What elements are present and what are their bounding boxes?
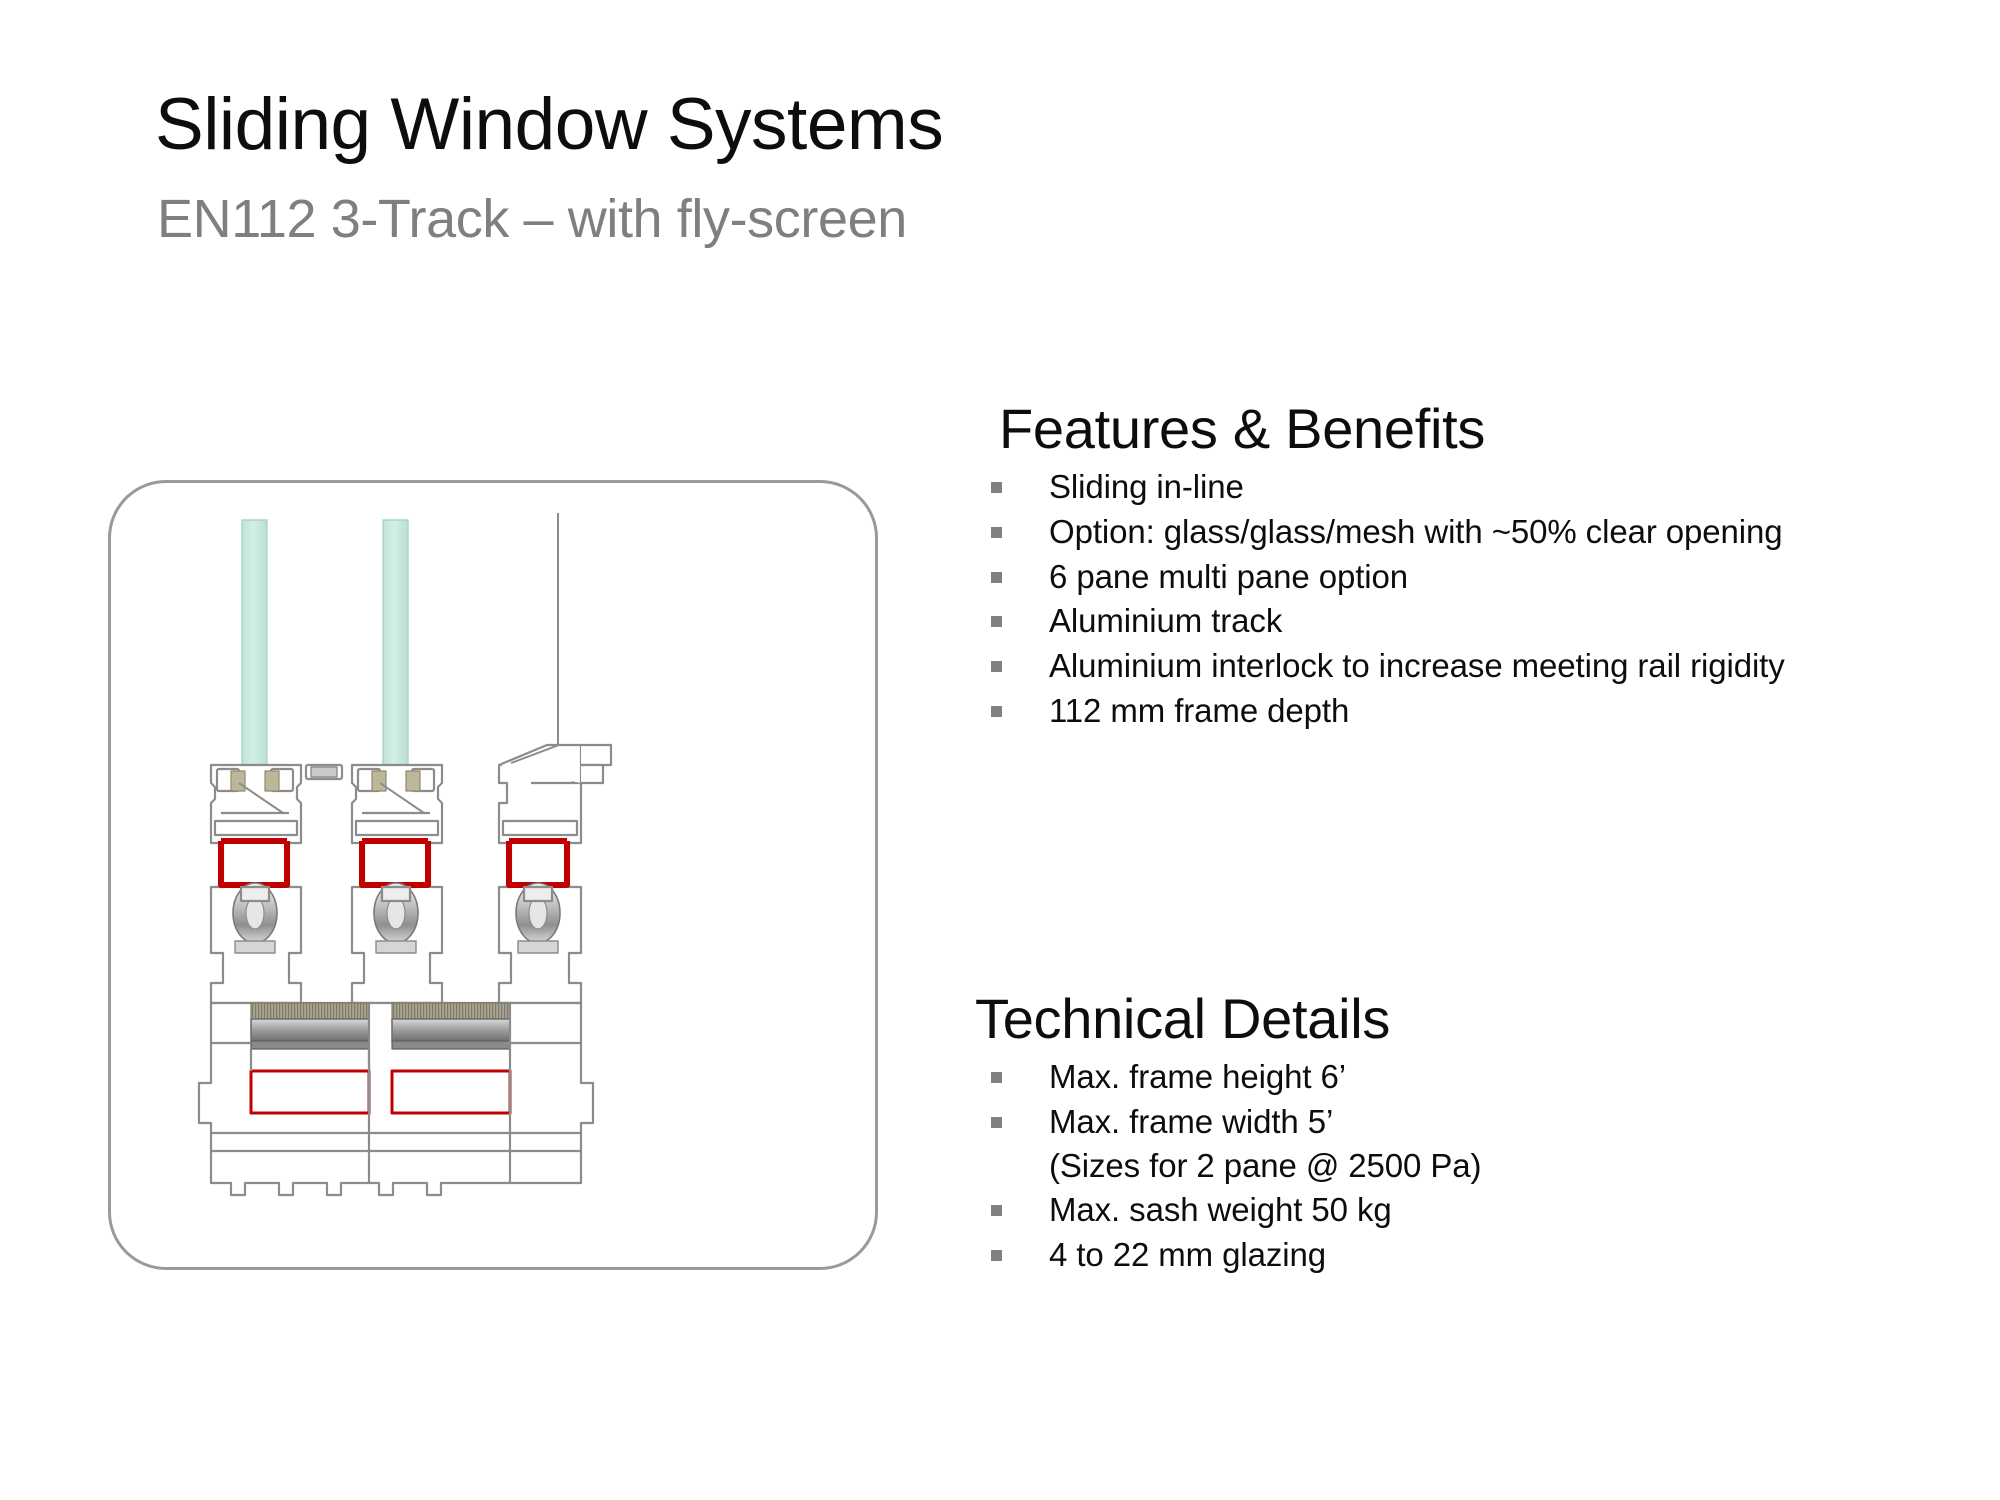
sash-flyscreen: [499, 745, 581, 1003]
list-item-label: Aluminium track: [1049, 599, 1805, 643]
list-item-label: Aluminium interlock to increase meeting …: [1049, 644, 1805, 688]
technical-details-section: Technical Details Max. frame height 6’ M…: [975, 990, 1805, 1278]
list-item: Max. frame width 5’ (Sizes for 2 pane @ …: [975, 1100, 1805, 1188]
roller-assembly-left: [233, 883, 277, 953]
bullet-square-icon: [991, 482, 1002, 493]
roller-assembly-right: [516, 883, 560, 953]
list-item: Aluminium track: [975, 599, 1805, 643]
list-item-label: 4 to 22 mm glazing: [1049, 1233, 1805, 1277]
features-benefits-section: Features & Benefits Sliding in-line Opti…: [975, 400, 1805, 734]
features-benefits-list: Sliding in-line Option: glass/glass/mesh…: [975, 465, 1805, 733]
list-item-label: Max. sash weight 50 kg: [1049, 1188, 1805, 1232]
bullet-square-icon: [991, 572, 1002, 583]
list-item: 6 pane multi pane option: [975, 555, 1805, 599]
list-item: Max. frame height 6’: [975, 1055, 1805, 1099]
bullet-square-icon: [991, 1072, 1002, 1083]
page-title: Sliding Window Systems: [155, 88, 943, 161]
list-item-label: 6 pane multi pane option: [1049, 555, 1805, 599]
roller-assembly-middle: [374, 883, 418, 953]
list-item: 4 to 22 mm glazing: [975, 1233, 1805, 1277]
list-item-label: Max. frame height 6’: [1049, 1055, 1805, 1099]
list-item: Option: glass/glass/mesh with ~50% clear…: [975, 510, 1805, 554]
list-item-label: Max. frame width 5’: [1049, 1100, 1805, 1144]
bullet-square-icon: [991, 661, 1002, 672]
bullet-square-icon: [991, 1250, 1002, 1261]
list-item: Sliding in-line: [975, 465, 1805, 509]
window-profile-cross-section-diagram: [111, 483, 881, 1273]
bullet-square-icon: [991, 527, 1002, 538]
bullet-square-icon: [991, 616, 1002, 627]
bullet-square-icon: [991, 1117, 1002, 1128]
bullet-square-icon: [991, 706, 1002, 717]
technical-details-heading: Technical Details: [975, 990, 1805, 1049]
list-item: Max. sash weight 50 kg: [975, 1188, 1805, 1232]
technical-details-list: Max. frame height 6’ Max. frame width 5’…: [975, 1055, 1805, 1277]
features-benefits-heading: Features & Benefits: [999, 400, 1805, 459]
list-item-label: 112 mm frame depth: [1049, 689, 1805, 733]
list-item-sublabel: (Sizes for 2 pane @ 2500 Pa): [1049, 1144, 1805, 1188]
frame-upright-right: [581, 745, 611, 783]
glass-pane-middle: [383, 520, 408, 780]
diagram-card: [108, 480, 878, 1270]
page-subtitle: EN112 3-Track – with fly-screen: [157, 192, 907, 246]
list-item: 112 mm frame depth: [975, 689, 1805, 733]
bullet-square-icon: [991, 1205, 1002, 1216]
glass-pane-left: [242, 520, 267, 780]
aluminium-interlock: [306, 765, 342, 779]
list-item-label: Sliding in-line: [1049, 465, 1805, 509]
list-item-label: Option: glass/glass/mesh with ~50% clear…: [1049, 510, 1805, 554]
list-item: Aluminium interlock to increase meeting …: [975, 644, 1805, 688]
